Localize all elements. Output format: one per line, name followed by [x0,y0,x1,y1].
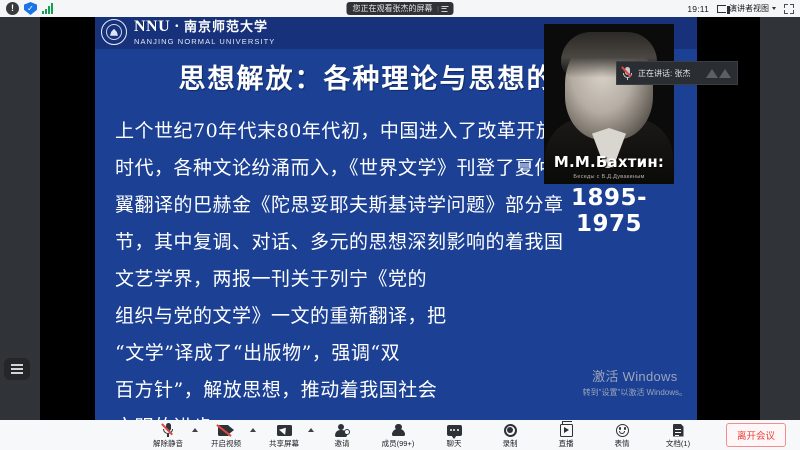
slide-body-line: 文明的进步。 [115,409,681,420]
university-logo: NNU · 南京师范大学 NANJING NORMAL UNIVERSITY [101,19,275,46]
info-icon[interactable]: ! [6,2,19,15]
top-bar-right: 19:11 演讲者视图 [687,3,794,14]
toolbar-label: 表情 [615,438,630,449]
portrait-years: 1895-1975 [544,185,674,237]
toolbar-button-start-video[interactable]: 开启视频 [198,421,254,449]
signal-icon[interactable] [42,3,53,14]
list-view-icon[interactable] [4,358,30,380]
sharing-notice-label: 您正在观看张杰的屏幕 [353,3,433,14]
toolbar-label: 文档(1) [666,438,690,449]
sharing-notice[interactable]: 您正在观看张杰的屏幕 [347,2,454,15]
toolbar-label: 录制 [503,438,518,449]
live-icon [560,423,573,437]
right-rail [760,17,800,420]
toolbar-button-emoji[interactable]: 表情 [594,421,650,449]
logo-cn-name: 南京师范大学 [184,20,268,33]
top-bar-status-icons: ! ✓ [0,2,53,15]
meeting-toolbar: 解除静音 开启视频 共享屏幕 [0,420,800,450]
toolbar-button-record[interactable]: 录制 [482,421,538,449]
toolbar-button-unmute[interactable]: 解除静音 [140,421,196,449]
windows-activation-watermark: 激活 Windows 转到"设置"以激活 Windows。 [583,366,687,398]
leave-meeting-button[interactable]: 离开会议 [726,423,786,447]
toolbar-button-share-screen[interactable]: 共享屏幕 [256,421,312,449]
chat-icon [447,423,462,437]
hamburger-icon[interactable] [438,6,452,12]
view-mode-label: 演讲者视图 [729,3,769,14]
bakhtin-portrait-image: М.М.Бахтин: Беседы с В.Д.Дувакиным [544,24,674,184]
toolbar-label: 聊天 [447,438,462,449]
mic-muted-icon [163,423,173,437]
mic-muted-icon [623,67,632,80]
view-mode-selector[interactable]: 演讲者视图 [717,3,776,14]
video-stage: NNU · 南京师范大学 NANJING NORMAL UNIVERSITY 思… [0,17,800,420]
top-bar: ! ✓ 您正在观看张杰的屏幕 19:11 演讲者视图 [0,0,800,17]
toolbar-label: 开启视频 [211,438,241,449]
document-icon [673,423,684,437]
clock: 19:11 [687,4,709,14]
toolbar-label: 共享屏幕 [269,438,299,449]
watermark-line-2: 转到"设置"以激活 Windows。 [583,387,687,398]
toolbar-button-participants[interactable]: 成员(99+) [370,421,426,449]
slide-body-line: 文艺学界，两报一刊关于列宁《党的 [115,261,681,298]
left-rail [0,17,40,420]
toolbar-button-live[interactable]: 直播 [538,421,594,449]
toolbar-button-chat[interactable]: 聊天 [426,421,482,449]
meeting-window: ! ✓ 您正在观看张杰的屏幕 19:11 演讲者视图 [0,0,800,450]
shield-icon[interactable]: ✓ [24,2,37,15]
toolbar-label: 解除静音 [153,438,183,449]
presenter-view-icon [717,5,726,13]
toolbar-label: 成员(99+) [382,438,415,449]
chevron-down-icon[interactable] [772,7,776,10]
audio-wave-icon [706,69,731,78]
share-screen-icon [277,423,292,437]
slide-body-line: 组织与党的文学》一文的重新翻译，把 [115,298,681,335]
camera-off-icon [218,423,234,437]
invite-icon [335,423,350,437]
watermark-line-1: 激活 Windows [583,366,687,385]
emoji-icon [616,423,629,437]
portrait-subtitle: Беседы с В.Д.Дувакиным [544,174,674,180]
fullscreen-icon[interactable] [784,4,794,14]
participants-icon [391,423,405,437]
shared-slide[interactable]: NNU · 南京师范大学 NANJING NORMAL UNIVERSITY 思… [95,17,697,420]
record-icon [504,423,517,437]
toolbar-label: 直播 [559,438,574,449]
nnu-seal-icon [101,19,127,45]
active-speaker-label: 正在讲话: 张杰 [638,68,690,79]
toolbar-button-documents[interactable]: 文档(1) [650,421,706,449]
active-speaker-chip[interactable]: 正在讲话: 张杰 [616,61,738,85]
logo-en-name: NANJING NORMAL UNIVERSITY [134,38,275,46]
toolbar-button-invite[interactable]: 邀请 [314,421,370,449]
toolbar-label: 邀请 [335,438,350,449]
logo-separator: · [174,19,180,35]
logo-abbr: NNU [134,19,170,35]
